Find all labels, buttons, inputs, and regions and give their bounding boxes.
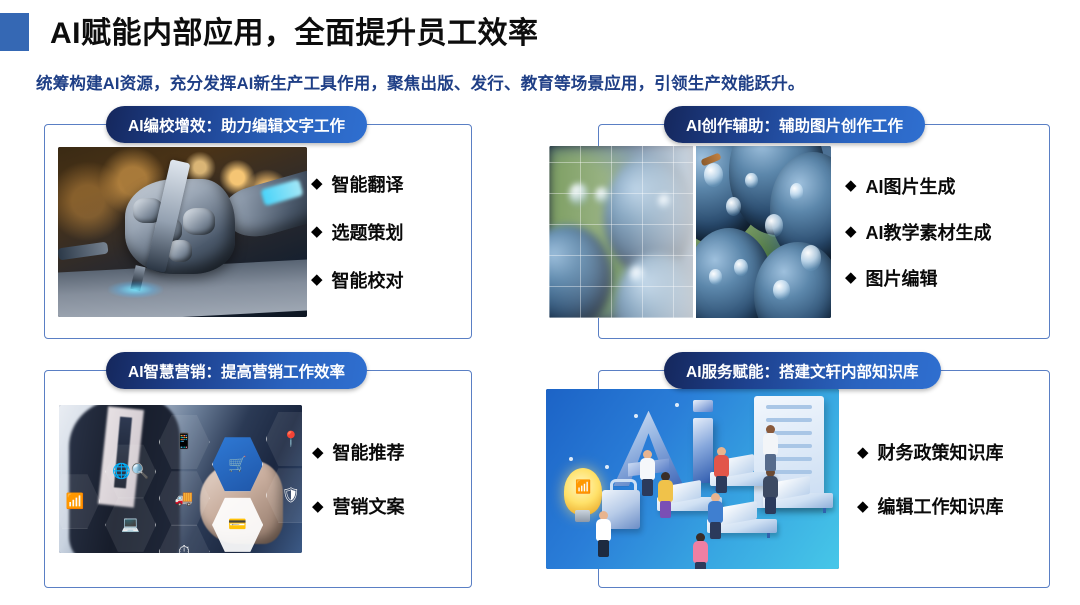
list-item-label: 营销文案 bbox=[333, 493, 405, 519]
card-ai-editing[interactable]: ◆ 智能翻译 ◆ 选题策划 ◆ 智能校对 bbox=[44, 124, 472, 339]
diamond-bullet-icon: ◆ bbox=[845, 270, 857, 285]
list-item-label: 智能推荐 bbox=[333, 439, 405, 465]
list-item: ◆ 营销文案 bbox=[312, 493, 471, 519]
list-item: ◆ 编辑工作知识库 bbox=[857, 493, 1049, 519]
diamond-bullet-icon: ◆ bbox=[845, 224, 857, 239]
diamond-bullet-icon: ◆ bbox=[857, 499, 869, 514]
image-hexagon-ecommerce: 🌐🔍 📱 🛒 📍 📶 🚚 🛡 💻 ⏱ 💳 bbox=[59, 405, 302, 553]
bullet-list-ai-creation: ◆ AI图片生成 ◆ AI教学素材生成 ◆ 图片编辑 bbox=[845, 163, 1049, 301]
diamond-bullet-icon: ◆ bbox=[857, 445, 869, 460]
list-item-label: 财务政策知识库 bbox=[878, 439, 1004, 465]
badge-ai-creation[interactable]: AI创作辅助：辅助图片创作工作 bbox=[664, 106, 925, 143]
diamond-bullet-icon: ◆ bbox=[311, 272, 323, 287]
page-title: AI赋能内部应用，全面提升员工效率 bbox=[50, 8, 539, 52]
image-robot-writing bbox=[58, 147, 307, 317]
bullet-list-ai-service: ◆ 财务政策知识库 ◆ 编辑工作知识库 bbox=[857, 425, 1049, 533]
list-item: ◆ 智能校对 bbox=[311, 267, 471, 293]
list-item-label: 选题策划 bbox=[332, 219, 404, 245]
diamond-bullet-icon: ◆ bbox=[845, 178, 857, 193]
list-item: ◆ 图片编辑 bbox=[845, 265, 1049, 291]
card-ai-creation[interactable]: ◆ AI图片生成 ◆ AI教学素材生成 ◆ 图片编辑 bbox=[598, 124, 1050, 339]
list-item-label: AI图片生成 bbox=[866, 173, 956, 199]
image-blueberry-compare bbox=[549, 146, 831, 318]
page-subtitle: 统筹构建AI资源，充分发挥AI新生产工具作用，聚焦出版、发行、教育等场景应用，引… bbox=[36, 70, 805, 94]
list-item: ◆ 财务政策知识库 bbox=[857, 439, 1049, 465]
badge-ai-marketing[interactable]: AI智慧营销：提高营销工作效率 bbox=[106, 352, 367, 389]
page-header: AI赋能内部应用，全面提升员工效率 bbox=[0, 0, 1080, 62]
bullet-list-ai-editing: ◆ 智能翻译 ◆ 选题策划 ◆ 智能校对 bbox=[311, 160, 471, 304]
list-item-label: 智能翻译 bbox=[332, 171, 404, 197]
location-pin-icon: 📍 bbox=[266, 411, 302, 467]
bullet-list-ai-marketing: ◆ 智能推荐 ◆ 营销文案 bbox=[312, 425, 471, 533]
list-item: ◆ 选题策划 bbox=[311, 219, 471, 245]
list-item-label: 智能校对 bbox=[332, 267, 404, 293]
diamond-bullet-icon: ◆ bbox=[312, 499, 324, 514]
list-item-label: 编辑工作知识库 bbox=[878, 493, 1004, 519]
card-ai-service[interactable]: 📶 bbox=[598, 370, 1050, 588]
list-item: ◆ 智能推荐 bbox=[312, 439, 471, 465]
list-item: ◆ AI教学素材生成 bbox=[845, 219, 1049, 245]
list-item: ◆ 智能翻译 bbox=[311, 171, 471, 197]
list-item-label: AI教学素材生成 bbox=[866, 219, 992, 245]
image-ai-classroom: 📶 bbox=[546, 389, 839, 569]
badge-ai-editing[interactable]: AI编校增效：助力编辑文字工作 bbox=[106, 106, 367, 143]
card-ai-marketing[interactable]: 🌐🔍 📱 🛒 📍 📶 🚚 🛡 💻 ⏱ 💳 ◆ 智能推荐 ◆ 营销文案 bbox=[44, 370, 472, 588]
badge-ai-service[interactable]: AI服务赋能：搭建文轩内部知识库 bbox=[664, 352, 941, 389]
diamond-bullet-icon: ◆ bbox=[311, 224, 323, 239]
title-accent-square bbox=[0, 13, 29, 51]
list-item: ◆ AI图片生成 bbox=[845, 173, 1049, 199]
list-item-label: 图片编辑 bbox=[866, 265, 938, 291]
diamond-bullet-icon: ◆ bbox=[311, 176, 323, 191]
diamond-bullet-icon: ◆ bbox=[312, 445, 324, 460]
